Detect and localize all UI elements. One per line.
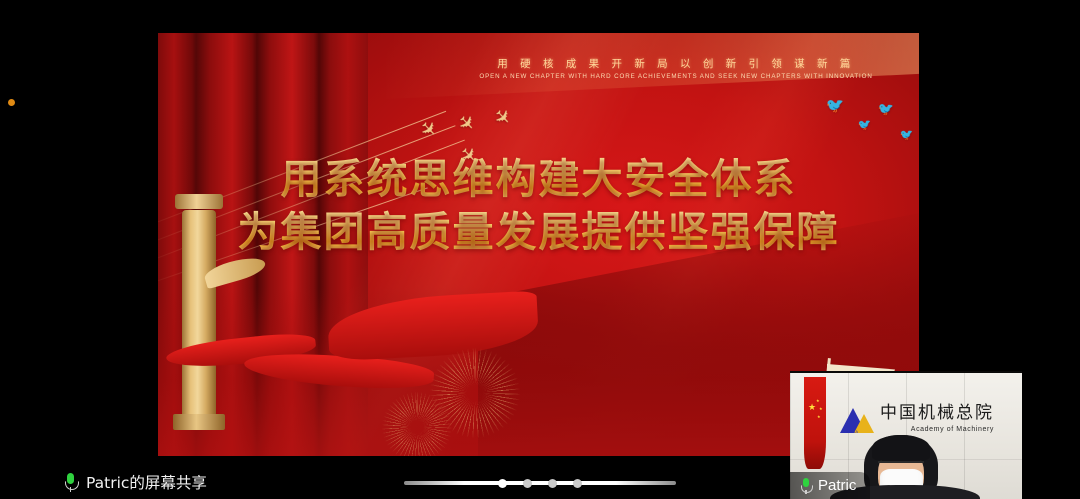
participant-name: Patric — [818, 477, 856, 494]
china-flag-icon: ★ ★ ★ ★ — [804, 377, 826, 469]
notification-dot — [8, 99, 15, 106]
participant-hair — [872, 435, 930, 461]
company-logo: CHINA 中国机械总院 Academy of Machinery — [840, 405, 994, 433]
firework-burst-2 — [382, 392, 452, 456]
microphone-icon — [800, 478, 811, 494]
page-dot-3[interactable] — [548, 479, 557, 488]
page-dot-1[interactable] — [498, 479, 507, 488]
slide-kicker-english: OPEN A NEW CHAPTER WITH HARD CORE ACHIEV… — [447, 73, 905, 80]
company-logo-text: 中国机械总院 Academy of Machinery — [880, 405, 994, 433]
company-name-cn: 中国机械总院 — [880, 403, 994, 423]
microphone-icon — [64, 473, 77, 492]
share-status-label: Patric的屏幕共享 — [86, 471, 207, 493]
page-indicator[interactable] — [404, 478, 676, 488]
page-dot-2[interactable] — [523, 479, 532, 488]
slide-title-line-1: 用系统思维构建大安全体系 — [158, 153, 919, 206]
page-indicator-dots — [498, 479, 582, 488]
company-logo-mark-text: CHINA — [844, 429, 858, 434]
slide-title-block: 用系统思维构建大安全体系 为集团高质量发展提供坚强保障 — [158, 153, 919, 260]
slide-kicker-chinese: 用 硬 核 成 果 开 新 局 以 创 新 引 领 谋 新 篇 — [447, 56, 905, 71]
screen-share-viewer: ✈ ✈ ✈ ✈ 🐦 🐦 🐦 🐦 用 硬 核 成 果 开 新 局 以 创 新 引 … — [0, 0, 1080, 499]
share-status: Patric的屏幕共享 — [64, 471, 207, 493]
flag-star-4: ★ — [817, 412, 821, 421]
slide-kicker: 用 硬 核 成 果 开 新 局 以 创 新 引 领 谋 新 篇 OPEN A N… — [158, 56, 905, 80]
video-thumbnail[interactable]: ★ ★ ★ ★ CHINA 中国机械总院 Academy of Machiner… — [790, 371, 1022, 499]
dove-icon-3: 🐦 — [877, 100, 896, 119]
slide-title-line-2: 为集团高质量发展提供坚强保障 — [158, 206, 919, 259]
company-name-en: Academy of Machinery — [880, 426, 994, 433]
page-dot-4[interactable] — [573, 479, 582, 488]
company-logo-mark-icon: CHINA — [840, 407, 874, 433]
flag-star-main: ★ — [808, 403, 816, 412]
video-name-label: Patric — [790, 472, 870, 499]
